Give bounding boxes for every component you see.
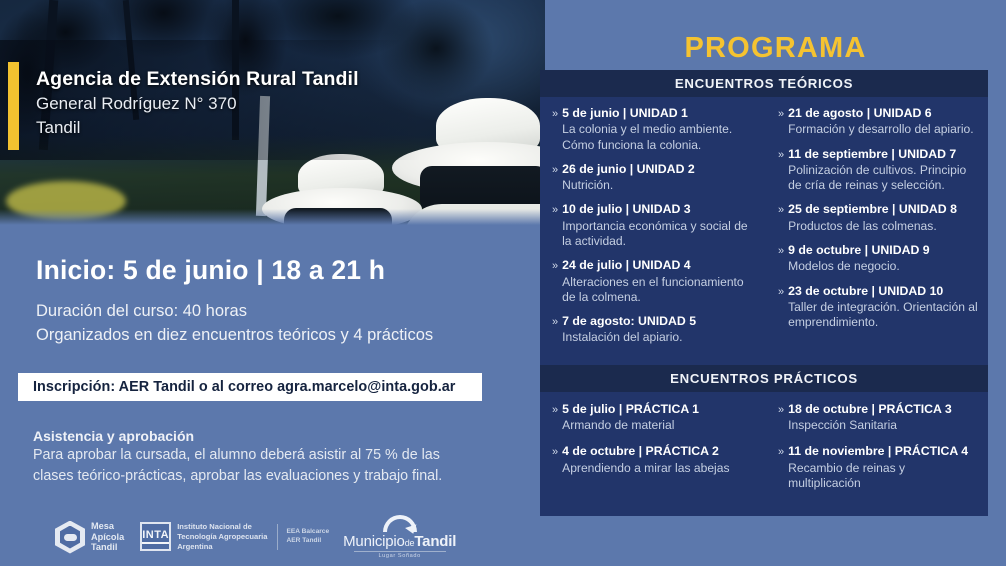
organization-line: Organizados en diez encuentros teóricos …	[36, 324, 433, 348]
practicos-column-1: »5 de julio | PRÁCTICA 1Armando de mater…	[540, 402, 764, 502]
photo-bottom-fade	[0, 209, 545, 225]
program-entry-description: Productos de las colmenas.	[788, 219, 978, 234]
program-entry-description: Inspección Sanitaria	[788, 418, 978, 433]
program-entry-title: 9 de octubre | UNIDAD 9	[788, 243, 978, 258]
bullet-icon: »	[552, 402, 558, 434]
program-entry-description: Instalación del apiario.	[562, 330, 758, 345]
bullet-icon: »	[778, 444, 784, 491]
footer-logos-left: MesaApícolaTandil INTA Instituto Naciona…	[55, 514, 456, 560]
program-title: PROGRAMA	[545, 32, 1006, 65]
agency-address: General Rodríguez N° 370	[36, 93, 506, 115]
practicos-columns: »5 de julio | PRÁCTICA 1Armando de mater…	[540, 392, 988, 516]
program-entry-description: Polinización de cultivos. Principio de c…	[788, 163, 978, 193]
attendance-line-2: clases teórico-prácticas, aprobar las ev…	[33, 466, 513, 486]
bullet-icon: »	[778, 147, 784, 194]
mesa-apicola-text: MesaApícolaTandil	[91, 521, 124, 554]
teoricos-heading-text: ENCUENTROS TEÓRICOS	[675, 76, 853, 91]
program-entry: »11 de septiembre | UNIDAD 7Polinización…	[778, 147, 978, 194]
program-entry-text: 9 de octubre | UNIDAD 9Modelos de negoci…	[788, 243, 978, 275]
program-entry-title: 7 de agosto: UNIDAD 5	[562, 314, 758, 329]
program-entry-title: 26 de junio | UNIDAD 2	[562, 162, 758, 177]
program-entry: »7 de agosto: UNIDAD 5Instalación del ap…	[552, 314, 758, 346]
municipio-tandil-logo: MunicipiodeTandil Lugar Soñado	[343, 515, 456, 559]
bullet-icon: »	[552, 162, 558, 194]
bullet-icon: »	[552, 258, 558, 305]
teoricos-column-2: »21 de agosto | UNIDAD 6Formación y desa…	[764, 106, 988, 355]
program-entry-description: La colonia y el medio ambiente. Cómo fun…	[562, 122, 758, 152]
bullet-icon: »	[552, 202, 558, 249]
program-entry-text: 11 de noviembre | PRÁCTICA 4Recambio de …	[788, 444, 978, 491]
program-entry-text: 5 de julio | PRÁCTICA 1Armando de materi…	[562, 402, 758, 434]
bullet-icon: »	[552, 314, 558, 346]
bullet-icon: »	[552, 444, 558, 476]
bullet-icon: »	[552, 106, 558, 153]
program-entry-text: 24 de julio | UNIDAD 4Alteraciones en el…	[562, 258, 758, 305]
program-entry-description: Nutrición.	[562, 178, 758, 193]
attendance-block: Asistencia y aprobación Para aprobar la …	[33, 428, 513, 487]
program-entry-text: 26 de junio | UNIDAD 2Nutrición.	[562, 162, 758, 194]
practicos-column-2: »18 de octubre | PRÁCTICA 3Inspección Sa…	[764, 402, 988, 502]
program-entry: »11 de noviembre | PRÁCTICA 4Recambio de…	[778, 444, 978, 491]
program-entry-text: 5 de junio | UNIDAD 1La colonia y el med…	[562, 106, 758, 153]
program-entry-text: 21 de agosto | UNIDAD 6Formación y desar…	[788, 106, 978, 138]
program-entry-description: Aprendiendo a mirar las abejas	[562, 461, 758, 476]
program-entry: »9 de octubre | UNIDAD 9Modelos de negoc…	[778, 243, 978, 275]
program-entry-title: 10 de julio | UNIDAD 3	[562, 202, 758, 217]
program-entry: »24 de julio | UNIDAD 4Alteraciones en e…	[552, 258, 758, 305]
program-entry: »25 de septiembre | UNIDAD 8Productos de…	[778, 202, 978, 234]
inta-mark-text: INTA	[142, 529, 169, 544]
program-entry-text: 11 de septiembre | UNIDAD 7Polinización …	[788, 147, 978, 194]
bullet-icon: »	[778, 284, 784, 331]
bullet-icon: »	[778, 402, 784, 434]
program-entry-title: 11 de noviembre | PRÁCTICA 4	[788, 444, 978, 459]
program-entry-description: Modelos de negocio.	[788, 259, 978, 274]
yellow-accent-bar	[8, 62, 19, 150]
agency-city: Tandil	[36, 117, 506, 139]
program-entry: »10 de julio | UNIDAD 3Importancia econó…	[552, 202, 758, 249]
inta-mark-icon: INTA	[140, 522, 171, 551]
duration-line: Duración del curso: 40 horas	[36, 300, 433, 324]
program-entry-text: 23 de octubre | UNIDAD 10Taller de integ…	[788, 284, 978, 331]
program-entry-title: 24 de julio | UNIDAD 4	[562, 258, 758, 273]
program-entry-title: 25 de septiembre | UNIDAD 8	[788, 202, 978, 217]
duration-info: Duración del curso: 40 horas Organizados…	[36, 300, 433, 348]
program-entry-title: 11 de septiembre | UNIDAD 7	[788, 147, 978, 162]
program-entry-description: Alteraciones en el funcionamiento de la …	[562, 275, 758, 305]
bee-icon	[64, 534, 77, 541]
program-entry-title: 5 de junio | UNIDAD 1	[562, 106, 758, 121]
practicos-section: ENCUENTROS PRÁCTICOS »5 de julio | PRÁCT…	[540, 365, 988, 516]
program-column: PROGRAMA ENCUENTROS TEÓRICOS »5 de junio…	[545, 0, 1006, 566]
bullet-icon: »	[778, 106, 784, 138]
inta-logo-text: Instituto Nacional deTecnología Agropecu…	[177, 522, 267, 552]
attendance-heading: Asistencia y aprobación	[33, 428, 513, 444]
registration-text: Inscripción: AER Tandil o al correo agra…	[33, 379, 455, 395]
program-entry-description: Importancia económica y social de la act…	[562, 219, 758, 249]
program-entry-text: 4 de octubre | PRÁCTICA 2Aprendiendo a m…	[562, 444, 758, 476]
program-entry: »23 de octubre | UNIDAD 10Taller de inte…	[778, 284, 978, 331]
program-entry: »26 de junio | UNIDAD 2Nutrición.	[552, 162, 758, 194]
program-entry-title: 4 de octubre | PRÁCTICA 2	[562, 444, 758, 459]
hexagon-icon	[55, 521, 85, 554]
mesa-apicola-logo: MesaApícolaTandil	[55, 521, 140, 554]
agency-block: Agencia de Extensión Rural Tandil Genera…	[36, 68, 506, 140]
program-entry-title: 5 de julio | PRÁCTICA 1	[562, 402, 758, 417]
program-entry-text: 7 de agosto: UNIDAD 5Instalación del api…	[562, 314, 758, 346]
program-panel: ENCUENTROS TEÓRICOS »5 de junio | UNIDAD…	[540, 70, 988, 516]
bullet-icon: »	[778, 202, 784, 234]
left-column: Agencia de Extensión Rural Tandil Genera…	[0, 0, 545, 566]
program-entry: »5 de junio | UNIDAD 1La colonia y el me…	[552, 106, 758, 153]
program-entry-title: 18 de octubre | PRÁCTICA 3	[788, 402, 978, 417]
program-entry: »5 de julio | PRÁCTICA 1Armando de mater…	[552, 402, 758, 434]
program-entry-text: 10 de julio | UNIDAD 3Importancia económ…	[562, 202, 758, 249]
municipio-tagline: Lugar Soñado	[354, 551, 446, 559]
program-entry-title: 23 de octubre | UNIDAD 10	[788, 284, 978, 299]
program-entry-text: 25 de septiembre | UNIDAD 8Productos de …	[788, 202, 978, 234]
program-entry-description: Armando de material	[562, 418, 758, 433]
inta-logo: INTA Instituto Nacional deTecnología Agr…	[140, 522, 343, 552]
program-entry-description: Recambio de reinas y multiplicación	[788, 461, 978, 491]
program-entry-description: Taller de integración. Orientación al em…	[788, 300, 978, 330]
program-entry: »21 de agosto | UNIDAD 6Formación y desa…	[778, 106, 978, 138]
attendance-line-1: Para aprobar la cursada, el alumno deber…	[33, 445, 513, 465]
poster-root: Agencia de Extensión Rural Tandil Genera…	[0, 0, 1006, 566]
agency-title: Agencia de Extensión Rural Tandil	[36, 68, 506, 91]
practicos-section-header: ENCUENTROS PRÁCTICOS	[540, 365, 988, 392]
teoricos-columns: »5 de junio | UNIDAD 1La colonia y el me…	[540, 97, 988, 365]
municipio-arc-icon	[383, 515, 417, 532]
program-entry-text: 18 de octubre | PRÁCTICA 3Inspección San…	[788, 402, 978, 434]
municipio-name: MunicipiodeTandil	[343, 534, 456, 549]
teoricos-section-header: ENCUENTROS TEÓRICOS	[540, 70, 988, 97]
eea-text: EEA BalcarceAER Tandil	[287, 528, 330, 545]
logo-divider	[277, 524, 278, 550]
program-entry: »18 de octubre | PRÁCTICA 3Inspección Sa…	[778, 402, 978, 434]
program-entry: »4 de octubre | PRÁCTICA 2Aprendiendo a …	[552, 444, 758, 476]
program-entry-title: 21 de agosto | UNIDAD 6	[788, 106, 978, 121]
start-info: Inicio: 5 de junio | 18 a 21 h	[36, 255, 385, 286]
program-entry-description: Formación y desarrollo del apiario.	[788, 122, 978, 137]
practicos-heading-text: ENCUENTROS PRÁCTICOS	[670, 371, 858, 386]
bullet-icon: »	[778, 243, 784, 275]
teoricos-column-1: »5 de junio | UNIDAD 1La colonia y el me…	[540, 106, 764, 355]
registration-banner[interactable]: Inscripción: AER Tandil o al correo agra…	[18, 373, 482, 401]
